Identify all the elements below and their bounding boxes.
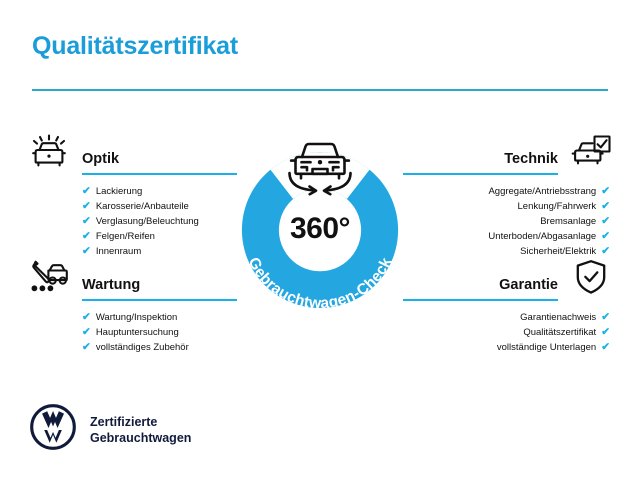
car-checkbox-icon: [568, 130, 614, 172]
list-item-label: Verglasung/Beleuchtung: [96, 217, 199, 227]
check-icon: ✔: [601, 186, 610, 197]
list-item: Aggregate/Antriebsstrang ✔: [399, 184, 614, 199]
section-technik: Technik Aggregate/Antriebsstrang ✔ Lenku…: [399, 130, 614, 259]
list-item: ✔ Hauptuntersuchung: [26, 325, 241, 340]
section-technik-title: Technik: [504, 152, 558, 167]
section-garantie-header: Garantie: [399, 256, 614, 298]
list-item: ✔ Wartung/Inspektion: [26, 310, 241, 325]
section-garantie-list: Garantienachweis ✔ Qualitätszertifikat ✔…: [399, 310, 614, 355]
section-garantie-underline: [403, 299, 558, 301]
section-technik-underline: [403, 173, 558, 175]
check-icon: ✔: [601, 312, 610, 323]
list-item-label: Karosserie/Anbauteile: [96, 202, 189, 212]
title-divider: [32, 89, 608, 91]
list-item-label: Lenkung/Fahrwerk: [518, 202, 597, 212]
check-icon: ✔: [82, 342, 91, 353]
section-wartung: Wartung ✔ Wartung/Inspektion ✔ Hauptunte…: [26, 256, 241, 355]
section-optik: Optik ✔ Lackierung ✔ Karosserie/Anbautei…: [26, 130, 241, 259]
list-item-label: Qualitätszertifikat: [523, 328, 596, 338]
list-item: ✔ Verglasung/Beleuchtung: [26, 214, 241, 229]
check-icon: ✔: [82, 312, 91, 323]
vw-roundel-logo: [30, 404, 76, 455]
section-wartung-underline: [82, 299, 237, 301]
list-item-label: Felgen/Reifen: [96, 232, 155, 242]
list-item: vollständige Unterlagen ✔: [399, 340, 614, 355]
wrench-car-oil-icon: [26, 256, 72, 298]
list-item-label: Unterboden/Abgasanlage: [488, 232, 596, 242]
section-garantie-title: Garantie: [499, 278, 558, 293]
check-icon: ✔: [82, 231, 91, 242]
list-item: ✔ Karosserie/Anbauteile: [26, 199, 241, 214]
list-item: ✔ Lackierung: [26, 184, 241, 199]
section-technik-header: Technik: [399, 130, 614, 172]
section-optik-title: Optik: [82, 152, 119, 167]
section-optik-header: Optik: [26, 130, 241, 172]
certificate-page: Qualitätszertifikat: [0, 0, 640, 480]
section-wartung-list: ✔ Wartung/Inspektion ✔ Hauptuntersuchung…: [26, 310, 241, 355]
list-item-label: Lackierung: [96, 187, 142, 197]
list-item: Garantienachweis ✔: [399, 310, 614, 325]
footer-branding: Zertifizierte Gebrauchtwagen: [30, 404, 191, 455]
section-technik-list: Aggregate/Antriebsstrang ✔ Lenkung/Fahrw…: [399, 184, 614, 259]
list-item: Lenkung/Fahrwerk ✔: [399, 199, 614, 214]
list-item-label: Garantienachweis: [520, 313, 596, 323]
list-item-label: Bremsanlage: [540, 217, 596, 227]
section-wartung-title: Wartung: [82, 278, 140, 293]
list-item-label: Sicherheit/Elektrik: [520, 247, 596, 257]
check-icon: ✔: [601, 231, 610, 242]
check-icon: ✔: [82, 216, 91, 227]
badge-degrees: 360°: [222, 214, 418, 244]
check-icon: ✔: [82, 186, 91, 197]
car-shine-icon: [26, 130, 72, 172]
check-icon: ✔: [601, 342, 610, 353]
check-icon: ✔: [601, 201, 610, 212]
footer-text: Zertifizierte Gebrauchtwagen: [90, 414, 191, 446]
car-rotate-icon: [290, 144, 351, 194]
gebrauchtwagen-check-badge: Gebrauchtwagen-Check 360°: [222, 112, 418, 322]
list-item-label: Hauptuntersuchung: [96, 328, 179, 338]
footer-line-2: Gebrauchtwagen: [90, 431, 191, 445]
check-icon: ✔: [601, 327, 610, 338]
section-wartung-header: Wartung: [26, 256, 241, 298]
footer-line-1: Zertifizierte: [90, 415, 157, 429]
list-item: ✔ Felgen/Reifen: [26, 229, 241, 244]
check-icon: ✔: [601, 216, 610, 227]
check-icon: ✔: [82, 201, 91, 212]
section-optik-list: ✔ Lackierung ✔ Karosserie/Anbauteile ✔ V…: [26, 184, 241, 259]
list-item: ✔ vollständiges Zubehör: [26, 340, 241, 355]
list-item: Bremsanlage ✔: [399, 214, 614, 229]
section-garantie: Garantie Garantienachweis ✔ Qualitätszer…: [399, 256, 614, 355]
list-item-label: vollständige Unterlagen: [497, 343, 596, 353]
list-item-label: Aggregate/Antriebsstrang: [488, 187, 596, 197]
list-item-label: Wartung/Inspektion: [96, 313, 178, 323]
list-item-label: vollständiges Zubehör: [96, 343, 189, 353]
section-optik-underline: [82, 173, 237, 175]
shield-check-icon: [568, 256, 614, 298]
list-item: Qualitätszertifikat ✔: [399, 325, 614, 340]
list-item: Unterboden/Abgasanlage ✔: [399, 229, 614, 244]
page-title: Qualitätszertifikat: [32, 34, 238, 59]
list-item-label: Innenraum: [96, 247, 141, 257]
check-icon: ✔: [82, 327, 91, 338]
